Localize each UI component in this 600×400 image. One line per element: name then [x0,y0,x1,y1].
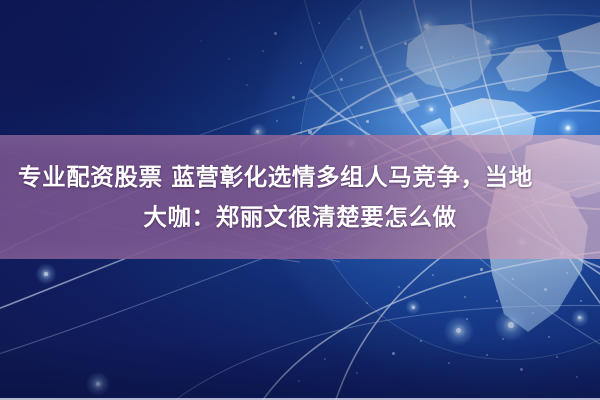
headline: 专业配资股票 蓝营彰化选情多组人马竞争，当地 大咖：郑丽文很清楚要怎么做 [0,135,600,259]
banner-image: 专业配资股票 蓝营彰化选情多组人马竞争，当地 大咖：郑丽文很清楚要怎么做 [0,0,600,400]
headline-line-2: 大咖：郑丽文很清楚要怎么做 [143,197,456,237]
headline-line-1: 专业配资股票 蓝营彰化选情多组人马竞争，当地 [14,157,533,197]
